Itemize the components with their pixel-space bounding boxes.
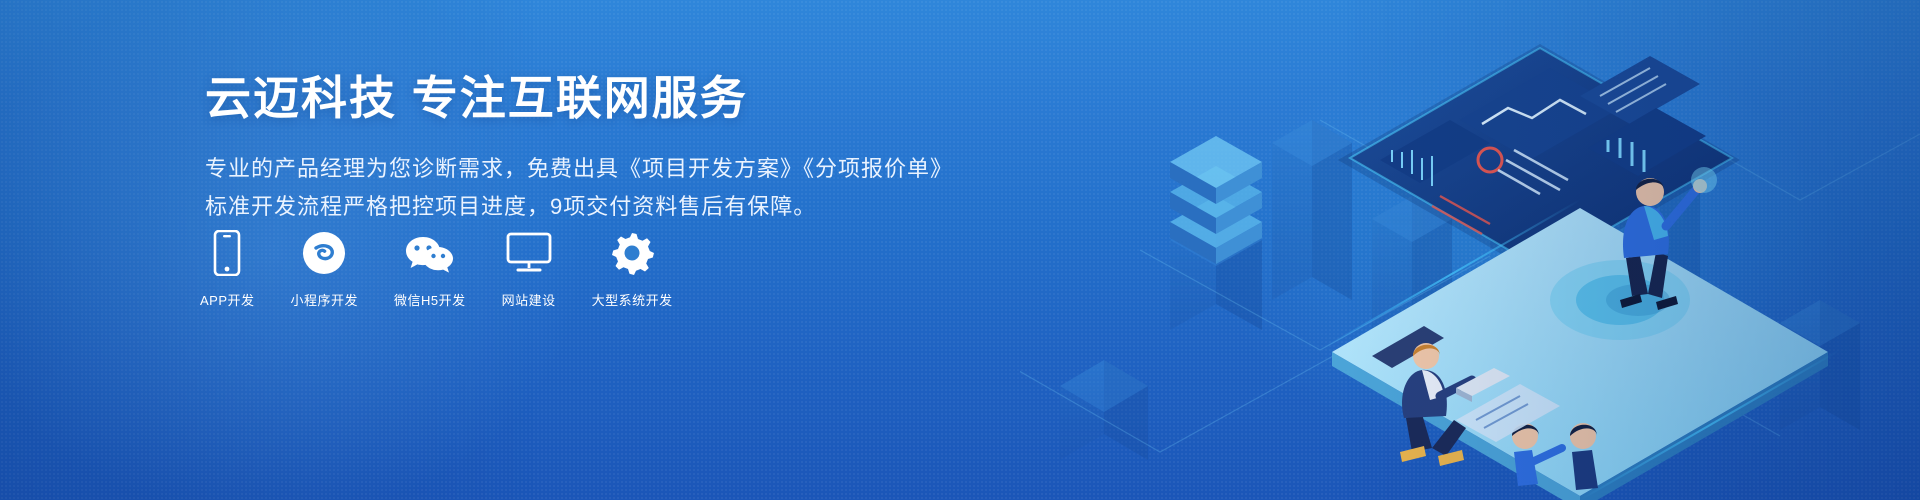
service-label: APP开发 xyxy=(200,290,255,309)
gear-icon xyxy=(610,230,654,276)
service-item-miniprogram[interactable]: 小程序开发 xyxy=(291,230,359,309)
server-stack xyxy=(1170,136,1262,264)
service-item-website[interactable]: 网站建设 xyxy=(502,230,556,309)
wechat-icon xyxy=(404,230,456,276)
monitor-icon xyxy=(506,230,552,276)
service-item-large-system[interactable]: 大型系统开发 xyxy=(592,230,673,309)
service-label: 网站建设 xyxy=(502,290,556,309)
service-label: 大型系统开发 xyxy=(592,290,673,309)
hero-copy: 云迈科技 专注互联网服务 专业的产品经理为您诊断需求，免费出具《项目开发方案》《… xyxy=(205,70,965,224)
subtitle-line-1: 专业的产品经理为您诊断需求，免费出具《项目开发方案》《分项报价单》 xyxy=(205,152,965,186)
service-list: APP开发 小程序开发 微信 xyxy=(200,230,673,309)
mobile-phone-icon xyxy=(212,230,242,276)
page-title: 云迈科技 专注互联网服务 xyxy=(205,70,965,126)
subtitle-line-2: 标准开发流程严格把控项目进度，9项交付资料售后有保障。 xyxy=(205,190,965,224)
mini-program-icon xyxy=(302,230,346,276)
hero-banner: 云迈科技 专注互联网服务 专业的产品经理为您诊断需求，免费出具《项目开发方案》《… xyxy=(0,0,1920,500)
service-label: 小程序开发 xyxy=(291,290,359,309)
service-label: 微信H5开发 xyxy=(394,290,466,309)
service-item-app[interactable]: APP开发 xyxy=(200,230,255,309)
service-item-wechat-h5[interactable]: 微信H5开发 xyxy=(394,230,466,309)
hero-illustration xyxy=(1020,0,1920,500)
